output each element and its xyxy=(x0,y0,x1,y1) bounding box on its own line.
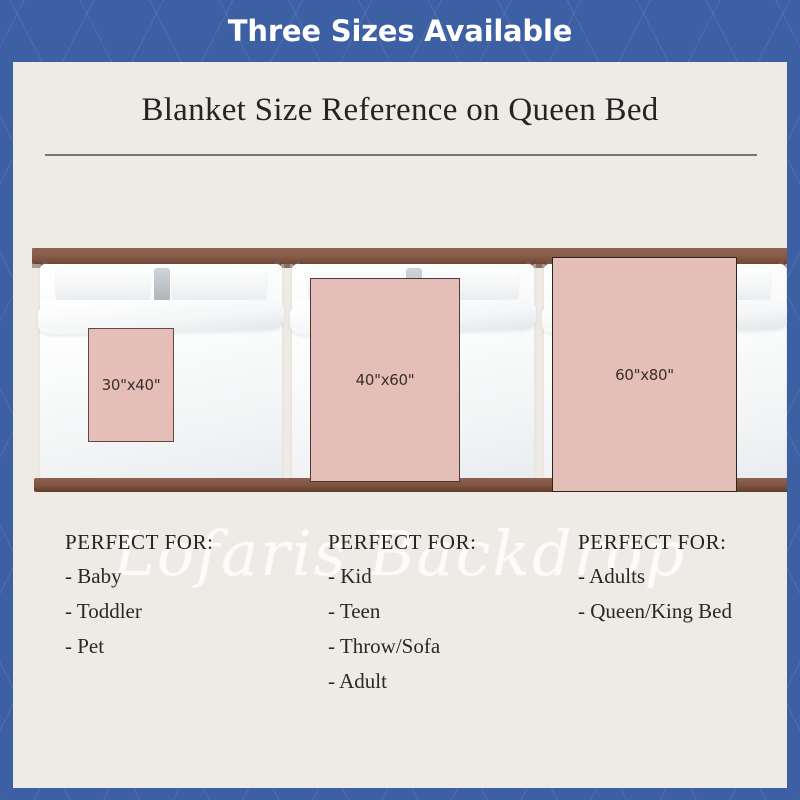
feature-item: - Throw/Sofa xyxy=(328,634,578,659)
feature-item: - Kid xyxy=(328,564,578,589)
feature-item: - Teen xyxy=(328,599,578,624)
banner-title: Three Sizes Available xyxy=(228,14,572,48)
blanket-size-label: 40"x60" xyxy=(356,371,415,389)
page-title: Blanket Size Reference on Queen Bed xyxy=(13,92,787,129)
feature-item: - Baby xyxy=(65,564,315,589)
blanket-size-label: 60"x80" xyxy=(615,366,674,384)
feature-lists: PERFECT FOR: - Baby - Toddler - Pet PERF… xyxy=(13,530,787,760)
pillow-gap xyxy=(154,268,170,302)
headboard-rail xyxy=(32,248,290,264)
pillow-left xyxy=(56,268,150,302)
pillow-right xyxy=(172,268,266,302)
feature-column-large: PERFECT FOR: - Adults - Queen/King Bed xyxy=(578,530,787,634)
feature-item: - Adult xyxy=(328,669,578,694)
blanket-size-label: 30"x40" xyxy=(102,376,161,394)
blanket-swatch: 40"x60" xyxy=(310,278,460,482)
content-card: Blanket Size Reference on Queen Bed 30"x… xyxy=(13,62,787,788)
feature-item: - Toddler xyxy=(65,599,315,624)
feature-heading: PERFECT FOR: xyxy=(328,530,578,555)
header-banner: Three Sizes Available xyxy=(0,0,800,62)
feature-column-small: PERFECT FOR: - Baby - Toddler - Pet xyxy=(65,530,315,669)
footboard-rail xyxy=(34,478,288,492)
bed-illustration-large: 60"x80" xyxy=(530,232,787,507)
blanket-swatch: 30"x40" xyxy=(88,328,174,442)
bed-illustration-small: 30"x40" xyxy=(26,232,296,507)
blanket-swatch: 60"x80" xyxy=(552,257,737,492)
feature-item: - Pet xyxy=(65,634,315,659)
bed-illustration-medium: 40"x60" xyxy=(278,232,548,507)
feature-item: - Queen/King Bed xyxy=(578,599,787,624)
feature-item: - Adults xyxy=(578,564,787,589)
feature-column-medium: PERFECT FOR: - Kid - Teen - Throw/Sofa -… xyxy=(328,530,578,704)
headboard-rail xyxy=(284,248,542,264)
feature-heading: PERFECT FOR: xyxy=(578,530,787,555)
bed-comparison-row: 30"x40" 40"x60" xyxy=(13,232,787,522)
title-divider xyxy=(45,154,757,156)
feature-heading: PERFECT FOR: xyxy=(65,530,315,555)
